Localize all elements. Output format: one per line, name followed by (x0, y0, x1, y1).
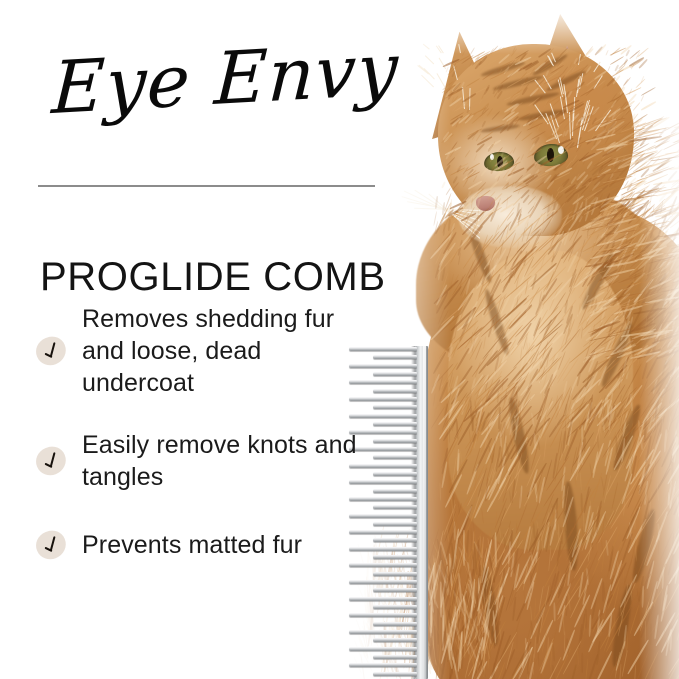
comb-spine-highlight (423, 346, 426, 679)
comb-tooth (349, 647, 417, 651)
benefits-list: Removes shedding fur and loose, dead und… (36, 303, 366, 567)
benefit-text: Prevents matted fur (82, 529, 302, 561)
comb-tooth (373, 472, 417, 476)
comb-tooth (373, 538, 417, 542)
comb-tooth (349, 630, 417, 634)
comb-tooth (373, 439, 417, 443)
comb-spine (415, 346, 428, 679)
brand-logo: Eye Envy (49, 17, 384, 146)
cat-pupil-right (547, 148, 554, 162)
page-title: PROGLIDE COMB (40, 253, 386, 301)
photo-fade-right (639, 0, 679, 679)
comb-tooth (373, 489, 417, 493)
comb-tooth (373, 389, 417, 393)
comb-tooth (373, 638, 417, 642)
cat-eye-glint-right (558, 146, 564, 154)
comb-tooth (349, 580, 417, 584)
list-item: Prevents matted fur (36, 523, 366, 567)
comb-tooth (373, 355, 417, 359)
checkmark-icon (32, 442, 70, 479)
comb-tooth (349, 663, 417, 667)
comb-tooth (373, 505, 417, 509)
list-item: Removes shedding fur and loose, dead und… (36, 303, 366, 399)
checkmark-icon (32, 526, 70, 563)
cat-muzzle (458, 186, 562, 248)
comb-tooth (373, 405, 417, 409)
benefit-text: Removes shedding fur and loose, dead und… (82, 303, 366, 399)
checkmark-icon (32, 332, 70, 369)
comb-tooth (373, 455, 417, 459)
comb-tooth (373, 605, 417, 609)
cat-pupil-left (497, 156, 503, 168)
comb-tooth (373, 672, 417, 676)
comb-tooth (373, 422, 417, 426)
comb-tooth (373, 622, 417, 626)
comb-tooth (349, 597, 417, 601)
comb-tooth (349, 613, 417, 617)
product-infographic: Eye Envy PROGLIDE COMB Removes shedding … (0, 0, 679, 679)
comb-tooth (373, 522, 417, 526)
comb-tooth (373, 372, 417, 376)
cat-eye-glint-left (490, 154, 494, 160)
benefit-text: Easily remove knots and tangles (82, 429, 366, 493)
list-item: Easily remove knots and tangles (36, 429, 366, 493)
cat-chest (448, 250, 633, 550)
comb-tooth (373, 655, 417, 659)
comb-tooth (373, 572, 417, 576)
comb-tooth (373, 555, 417, 559)
comb-tooth (373, 588, 417, 592)
header-divider (38, 185, 375, 187)
